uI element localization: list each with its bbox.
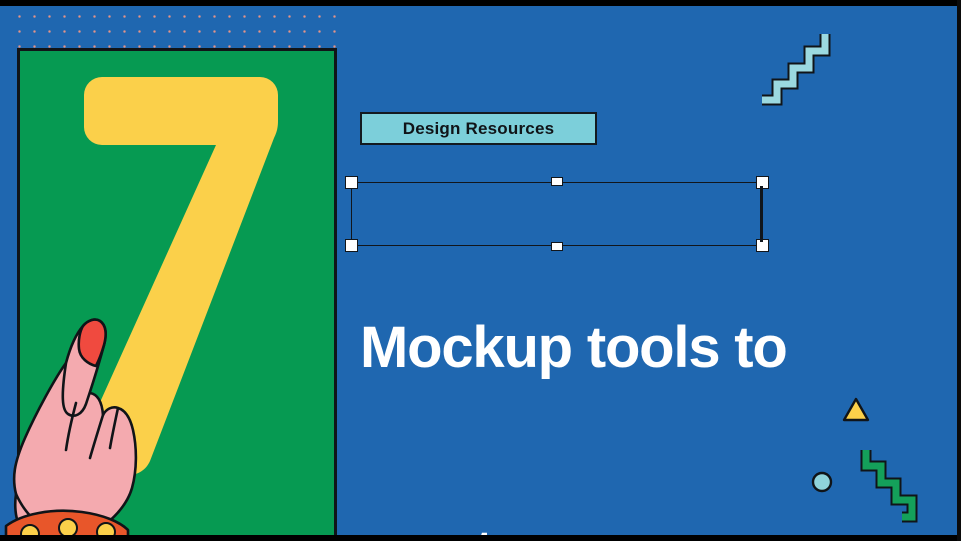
zigzag-teal-icon bbox=[757, 28, 837, 106]
headline-text[interactable]: Mockup tools to create awesome designs i… bbox=[360, 178, 880, 541]
pointing-hand-illustration bbox=[0, 318, 190, 541]
frame-top-bar bbox=[0, 0, 961, 6]
slide-canvas: Design Resources Mockup tools to create … bbox=[0, 0, 961, 541]
category-badge[interactable]: Design Resources bbox=[360, 112, 597, 145]
category-badge-label: Design Resources bbox=[403, 120, 555, 137]
text-caret bbox=[760, 186, 763, 242]
frame-bottom-bar bbox=[0, 535, 961, 541]
frame-right-bar bbox=[957, 0, 961, 541]
headline-line-1: Mockup tools to bbox=[360, 314, 880, 382]
